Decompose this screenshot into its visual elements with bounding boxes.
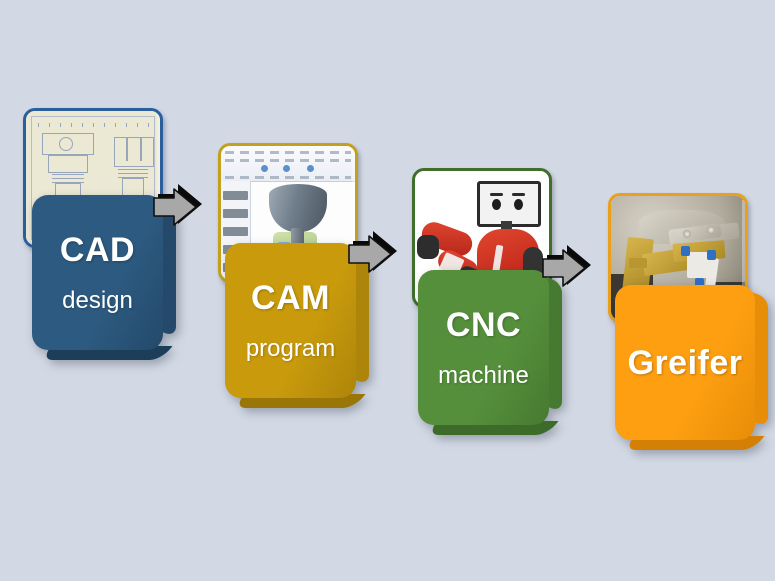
card-cam-subtitle: program xyxy=(246,337,335,361)
card-cad[interactable]: CAD design xyxy=(32,195,163,350)
cam-tool-body xyxy=(269,184,327,232)
card-cad-subtitle: design xyxy=(62,289,133,313)
card-cnc[interactable]: CNC machine xyxy=(418,270,549,425)
card-cam-title: CAM xyxy=(251,281,330,315)
card-cad-face: CAD design xyxy=(32,195,163,350)
card-greifer-title: Greifer xyxy=(628,346,743,380)
card-cad-title: CAD xyxy=(60,233,135,267)
card-cnc-face: CNC machine xyxy=(418,270,549,425)
gripper-connector xyxy=(681,246,690,256)
card-cam[interactable]: CAM program xyxy=(225,243,356,398)
cam-ribbon-toolbar xyxy=(221,146,355,182)
arrow-right-icon xyxy=(152,178,208,234)
card-greifer[interactable]: Greifer xyxy=(615,285,755,440)
arrow-right-icon xyxy=(541,239,597,295)
arrow-right-icon xyxy=(347,225,403,281)
card-cnc-title: CNC xyxy=(446,308,521,342)
diagram-canvas: CAD design xyxy=(0,0,775,581)
card-cam-face: CAM program xyxy=(225,243,356,398)
gripper-connector xyxy=(707,250,716,260)
card-greifer-face: Greifer xyxy=(615,285,755,440)
card-cnc-subtitle: machine xyxy=(438,364,529,388)
robot-joint xyxy=(417,235,439,259)
